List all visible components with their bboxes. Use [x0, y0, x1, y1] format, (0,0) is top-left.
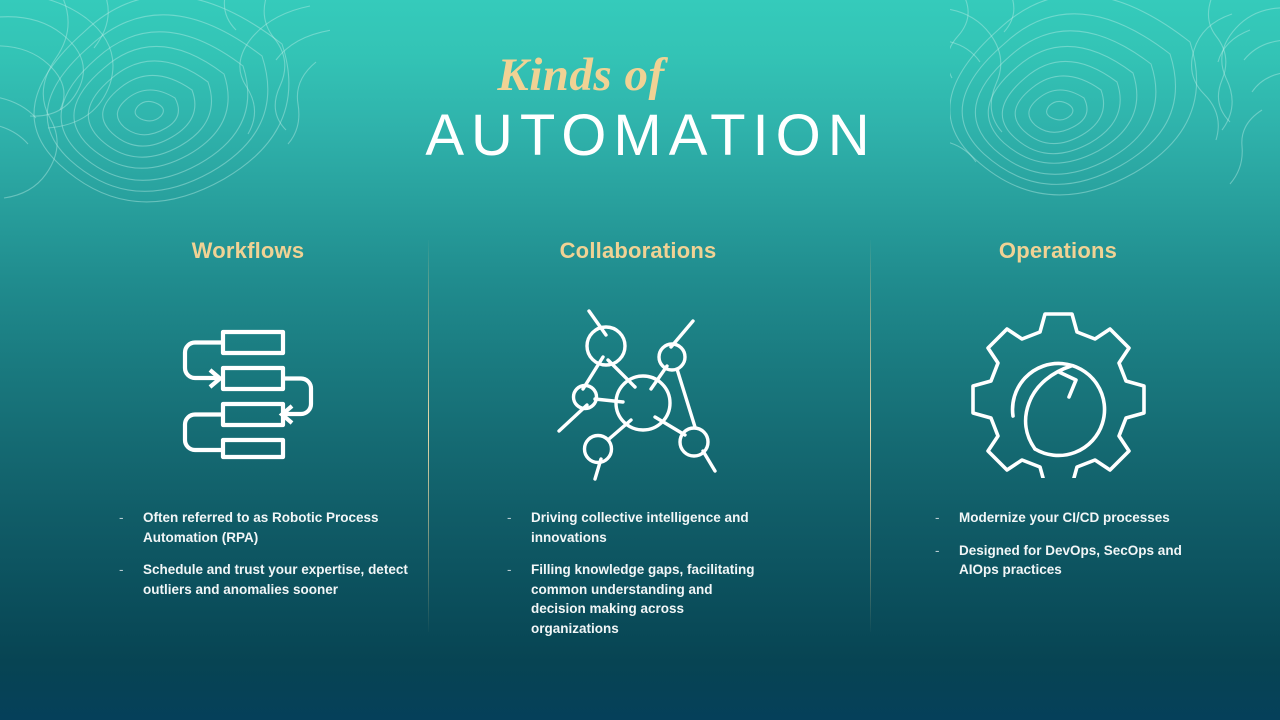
list-item: - Designed for DevOps, SecOps and AIOps … [933, 541, 1193, 580]
column-operations: Operations - Modernize your CI [865, 238, 1251, 658]
list-item: - Schedule and trust your expertise, det… [117, 560, 417, 599]
list-item: - Often referred to as Robotic Process A… [117, 508, 417, 547]
gear-refresh-arrow-icon [865, 300, 1251, 485]
list-item: - Filling knowledge gaps, facilitating c… [505, 560, 765, 638]
list-item: - Driving collective intelligence and in… [505, 508, 765, 547]
slide-title-block: Kinds of AUTOMATION [0, 52, 1280, 168]
list-item-text: Driving collective intelligence and inno… [531, 510, 749, 545]
bullet-marker: - [119, 508, 124, 528]
slide-canvas: Kinds of AUTOMATION Workflows [0, 0, 1280, 720]
page-title: AUTOMATION [22, 105, 1280, 168]
bullet-list-collaborations: - Driving collective intelligence and in… [505, 508, 765, 638]
network-nodes-icon [445, 300, 831, 485]
column-heading-operations: Operations [865, 238, 1251, 264]
bullet-marker: - [935, 541, 940, 561]
bullet-marker: - [507, 560, 512, 580]
column-heading-workflows: Workflows [55, 238, 441, 264]
list-item-text: Designed for DevOps, SecOps and AIOps pr… [959, 543, 1182, 578]
bullet-list-operations: - Modernize your CI/CD processes - Desig… [933, 508, 1193, 580]
columns-container: Workflows [0, 238, 1280, 658]
list-item-text: Modernize your CI/CD processes [959, 510, 1170, 525]
title-kicker: Kinds of [0, 52, 1280, 99]
bullet-marker: - [935, 508, 940, 528]
bullet-marker: - [119, 560, 124, 580]
workflow-diagram-icon [55, 300, 441, 485]
list-item-text: Often referred to as Robotic Process Aut… [143, 510, 379, 545]
column-heading-collaborations: Collaborations [445, 238, 831, 264]
column-workflows: Workflows [55, 238, 441, 658]
column-collaborations: Collaborations [445, 238, 831, 658]
list-item-text: Filling knowledge gaps, facilitating com… [531, 562, 755, 636]
bullet-list-workflows: - Often referred to as Robotic Process A… [117, 508, 417, 599]
list-item-text: Schedule and trust your expertise, detec… [143, 562, 408, 597]
bullet-marker: - [507, 508, 512, 528]
list-item: - Modernize your CI/CD processes [933, 508, 1193, 528]
